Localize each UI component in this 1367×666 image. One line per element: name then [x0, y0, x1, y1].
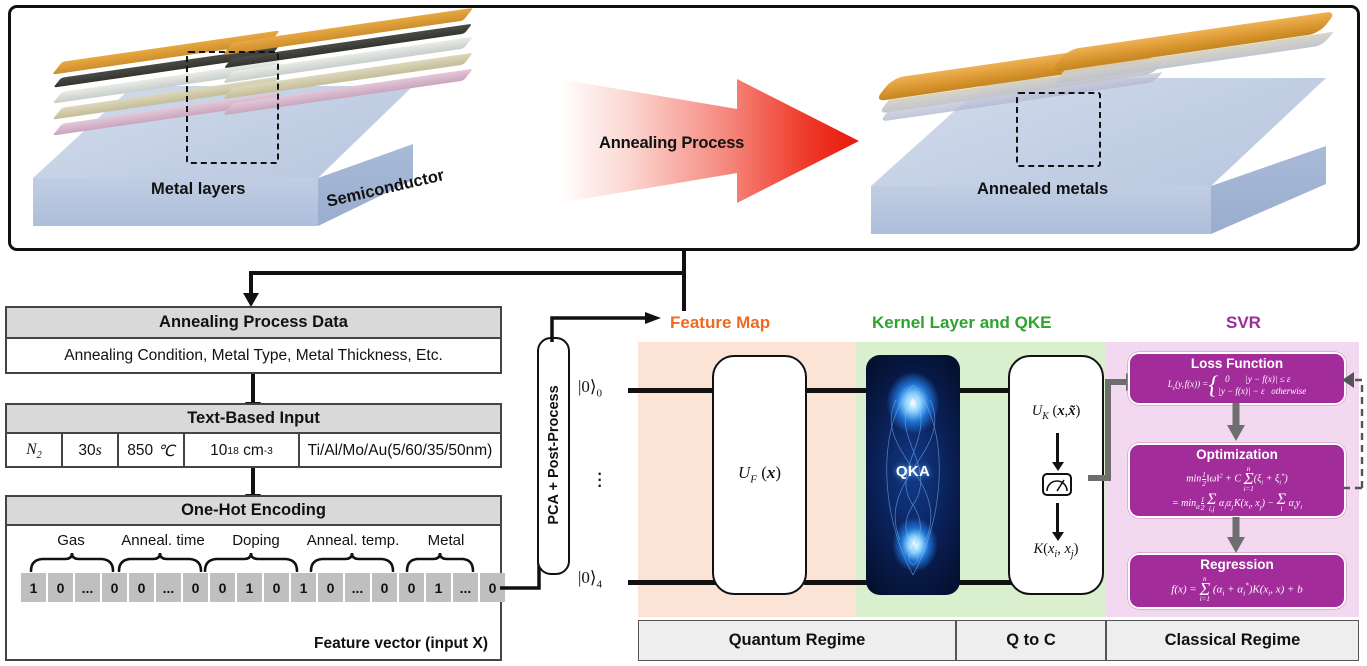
pca-post-process-box: PCA + Post-Process: [537, 337, 570, 575]
kernel-layer-header: Kernel Layer and QKE: [872, 313, 1052, 333]
regime-classical: Classical Regime: [1106, 620, 1359, 661]
svr-header: SVR: [1226, 313, 1261, 333]
illustration-panel: Metal layers Semiconductor Annealing Pro…: [8, 5, 1360, 251]
annealing-process-data-body: Annealing Condition, Metal Type, Metal T…: [7, 339, 500, 374]
feature-vector-cell: 0: [102, 573, 127, 602]
brace-doping: [203, 552, 299, 572]
feature-vector-cell: ...: [453, 573, 478, 602]
feature-vector-caption: Feature vector (input X): [314, 635, 488, 653]
qubit-wire-bottom-1: [628, 580, 716, 585]
feature-vector-cell: 0: [183, 573, 208, 602]
feature-vector-cell: 0: [318, 573, 343, 602]
one-hot-encoding-title: One-Hot Encoding: [7, 497, 500, 526]
feature-vector-cell: 0: [372, 573, 397, 602]
kernel-arrow-2: [1056, 503, 1059, 533]
annealed-metals-highlight-box: [1016, 92, 1101, 167]
cell-metal-stack: Ti/Al/Mo/Au(5/60/35/50nm): [300, 434, 500, 468]
pca-post-process-label: PCA + Post-Process: [546, 370, 562, 540]
text-based-input-title: Text-Based Input: [7, 405, 500, 434]
svr-feedback-loop: [1340, 368, 1366, 498]
loss-function-equation: Lε(y, f(x)) ={ 0 |y − f(x)| ≤ ε |y − f(x…: [1130, 374, 1344, 397]
group-label-doping: Doping: [216, 532, 296, 549]
annealed-metals-label: Annealed metals: [977, 180, 1108, 199]
loss-function-title: Loss Function: [1130, 357, 1344, 372]
feature-map-gate-label: UF (x): [714, 463, 805, 485]
feature-vector-cell: ...: [75, 573, 100, 602]
group-label-metal: Metal: [411, 532, 481, 549]
qka-kernel-alignment-box: QKA: [866, 355, 960, 595]
feature-vector-cell: 0: [264, 573, 289, 602]
optimization-equation-line1: min 12 ‖ω‖2 + C nΣi=1 (ξi + ξi*): [1130, 466, 1344, 493]
feature-vector-cell: 1: [237, 573, 262, 602]
regime-q-to-c: Q to C: [956, 620, 1106, 661]
feature-map-gate: UF (x): [712, 355, 807, 595]
cell-doping: 1018 cm-3: [185, 434, 300, 468]
qubit-label-0: |0⟩0: [578, 377, 602, 399]
qubit-ellipsis-icon: ···: [596, 470, 603, 488]
feature-map-header: Feature Map: [670, 313, 770, 333]
group-label-anneal-time: Anneal. time: [107, 532, 219, 549]
arrow-data-to-text: [251, 374, 255, 403]
optimization-to-regression-arrow: [1225, 517, 1249, 557]
metal-layers-highlight-box: [186, 51, 279, 164]
loss-to-optimization-arrow: [1225, 403, 1249, 443]
cell-gas: N2: [7, 434, 63, 468]
regime-quantum: Quantum Regime: [638, 620, 956, 661]
qka-label: QKA: [866, 463, 960, 480]
cell-anneal-time: 30s: [63, 434, 119, 468]
feature-vector-cell: 1: [21, 573, 46, 602]
group-label-anneal-temp: Anneal. temp.: [294, 532, 412, 549]
group-label-gas: Gas: [31, 532, 111, 549]
metal-layers-label: Metal layers: [151, 180, 245, 199]
kernel-arrow-1: [1056, 433, 1059, 463]
feature-vector-cell: 1: [291, 573, 316, 602]
feature-vector-cells: 10...00...001010...001...0: [21, 573, 505, 602]
cell-anneal-temp: 850 ℃: [119, 434, 185, 468]
text-based-input-box: Text-Based Input N2 30s 850 ℃ 1018 cm-3 …: [5, 403, 502, 468]
feature-vector-cell: 0: [48, 573, 73, 602]
feature-vector-cell: 1: [426, 573, 451, 602]
arrow-text-to-onehot: [251, 468, 255, 495]
one-hot-encoding-box: One-Hot Encoding Gas Anneal. time Doping…: [5, 495, 502, 661]
annealing-process-arrow-label: Annealing Process: [599, 134, 744, 153]
regression-box: Regression f(x) = nΣi=1 (αi + αi*)K(xi, …: [1128, 553, 1346, 609]
optimization-title: Optimization: [1130, 448, 1344, 463]
brace-gas: [29, 552, 115, 572]
feature-vector-cell: 0: [210, 573, 235, 602]
optimization-box: Optimization min 12 ‖ω‖2 + C nΣi=1 (ξi +…: [1128, 443, 1346, 518]
optimization-equation-line2: = minα 12 Σi,j αiαj K(xi, xj) − Σi αiyi: [1130, 494, 1344, 514]
text-based-input-row: N2 30s 850 ℃ 1018 cm-3 Ti/Al/Mo/Au(5/60/…: [7, 434, 500, 468]
feature-vector-cell: ...: [156, 573, 181, 602]
loss-function-box: Loss Function Lε(y, f(x)) ={ 0 |y − f(x)…: [1128, 352, 1346, 405]
brace-metal: [405, 552, 475, 572]
measurement-meter-icon: [1042, 473, 1072, 496]
regression-equation: f(x) = nΣi=1 (αi + αi*)K(xi, x) + b: [1130, 576, 1344, 604]
annealing-process-data-title: Annealing Process Data: [7, 308, 500, 339]
feature-vector-cell: 0: [129, 573, 154, 602]
feature-vector-cell: 0: [399, 573, 424, 602]
kernel-output-label: K(xi, xj): [1010, 541, 1102, 560]
brace-anneal-time: [117, 552, 203, 572]
annealing-process-data-box: Annealing Process Data Annealing Conditi…: [5, 306, 502, 374]
brace-anneal-temp: [309, 552, 395, 572]
regression-title: Regression: [1130, 558, 1344, 573]
qubit-label-4: |0⟩4: [578, 568, 602, 590]
qubit-wire-top-1: [628, 388, 716, 393]
one-hot-body: Gas Anneal. time Doping Anneal. temp. Me…: [7, 526, 500, 659]
feature-vector-cell: ...: [345, 573, 370, 602]
